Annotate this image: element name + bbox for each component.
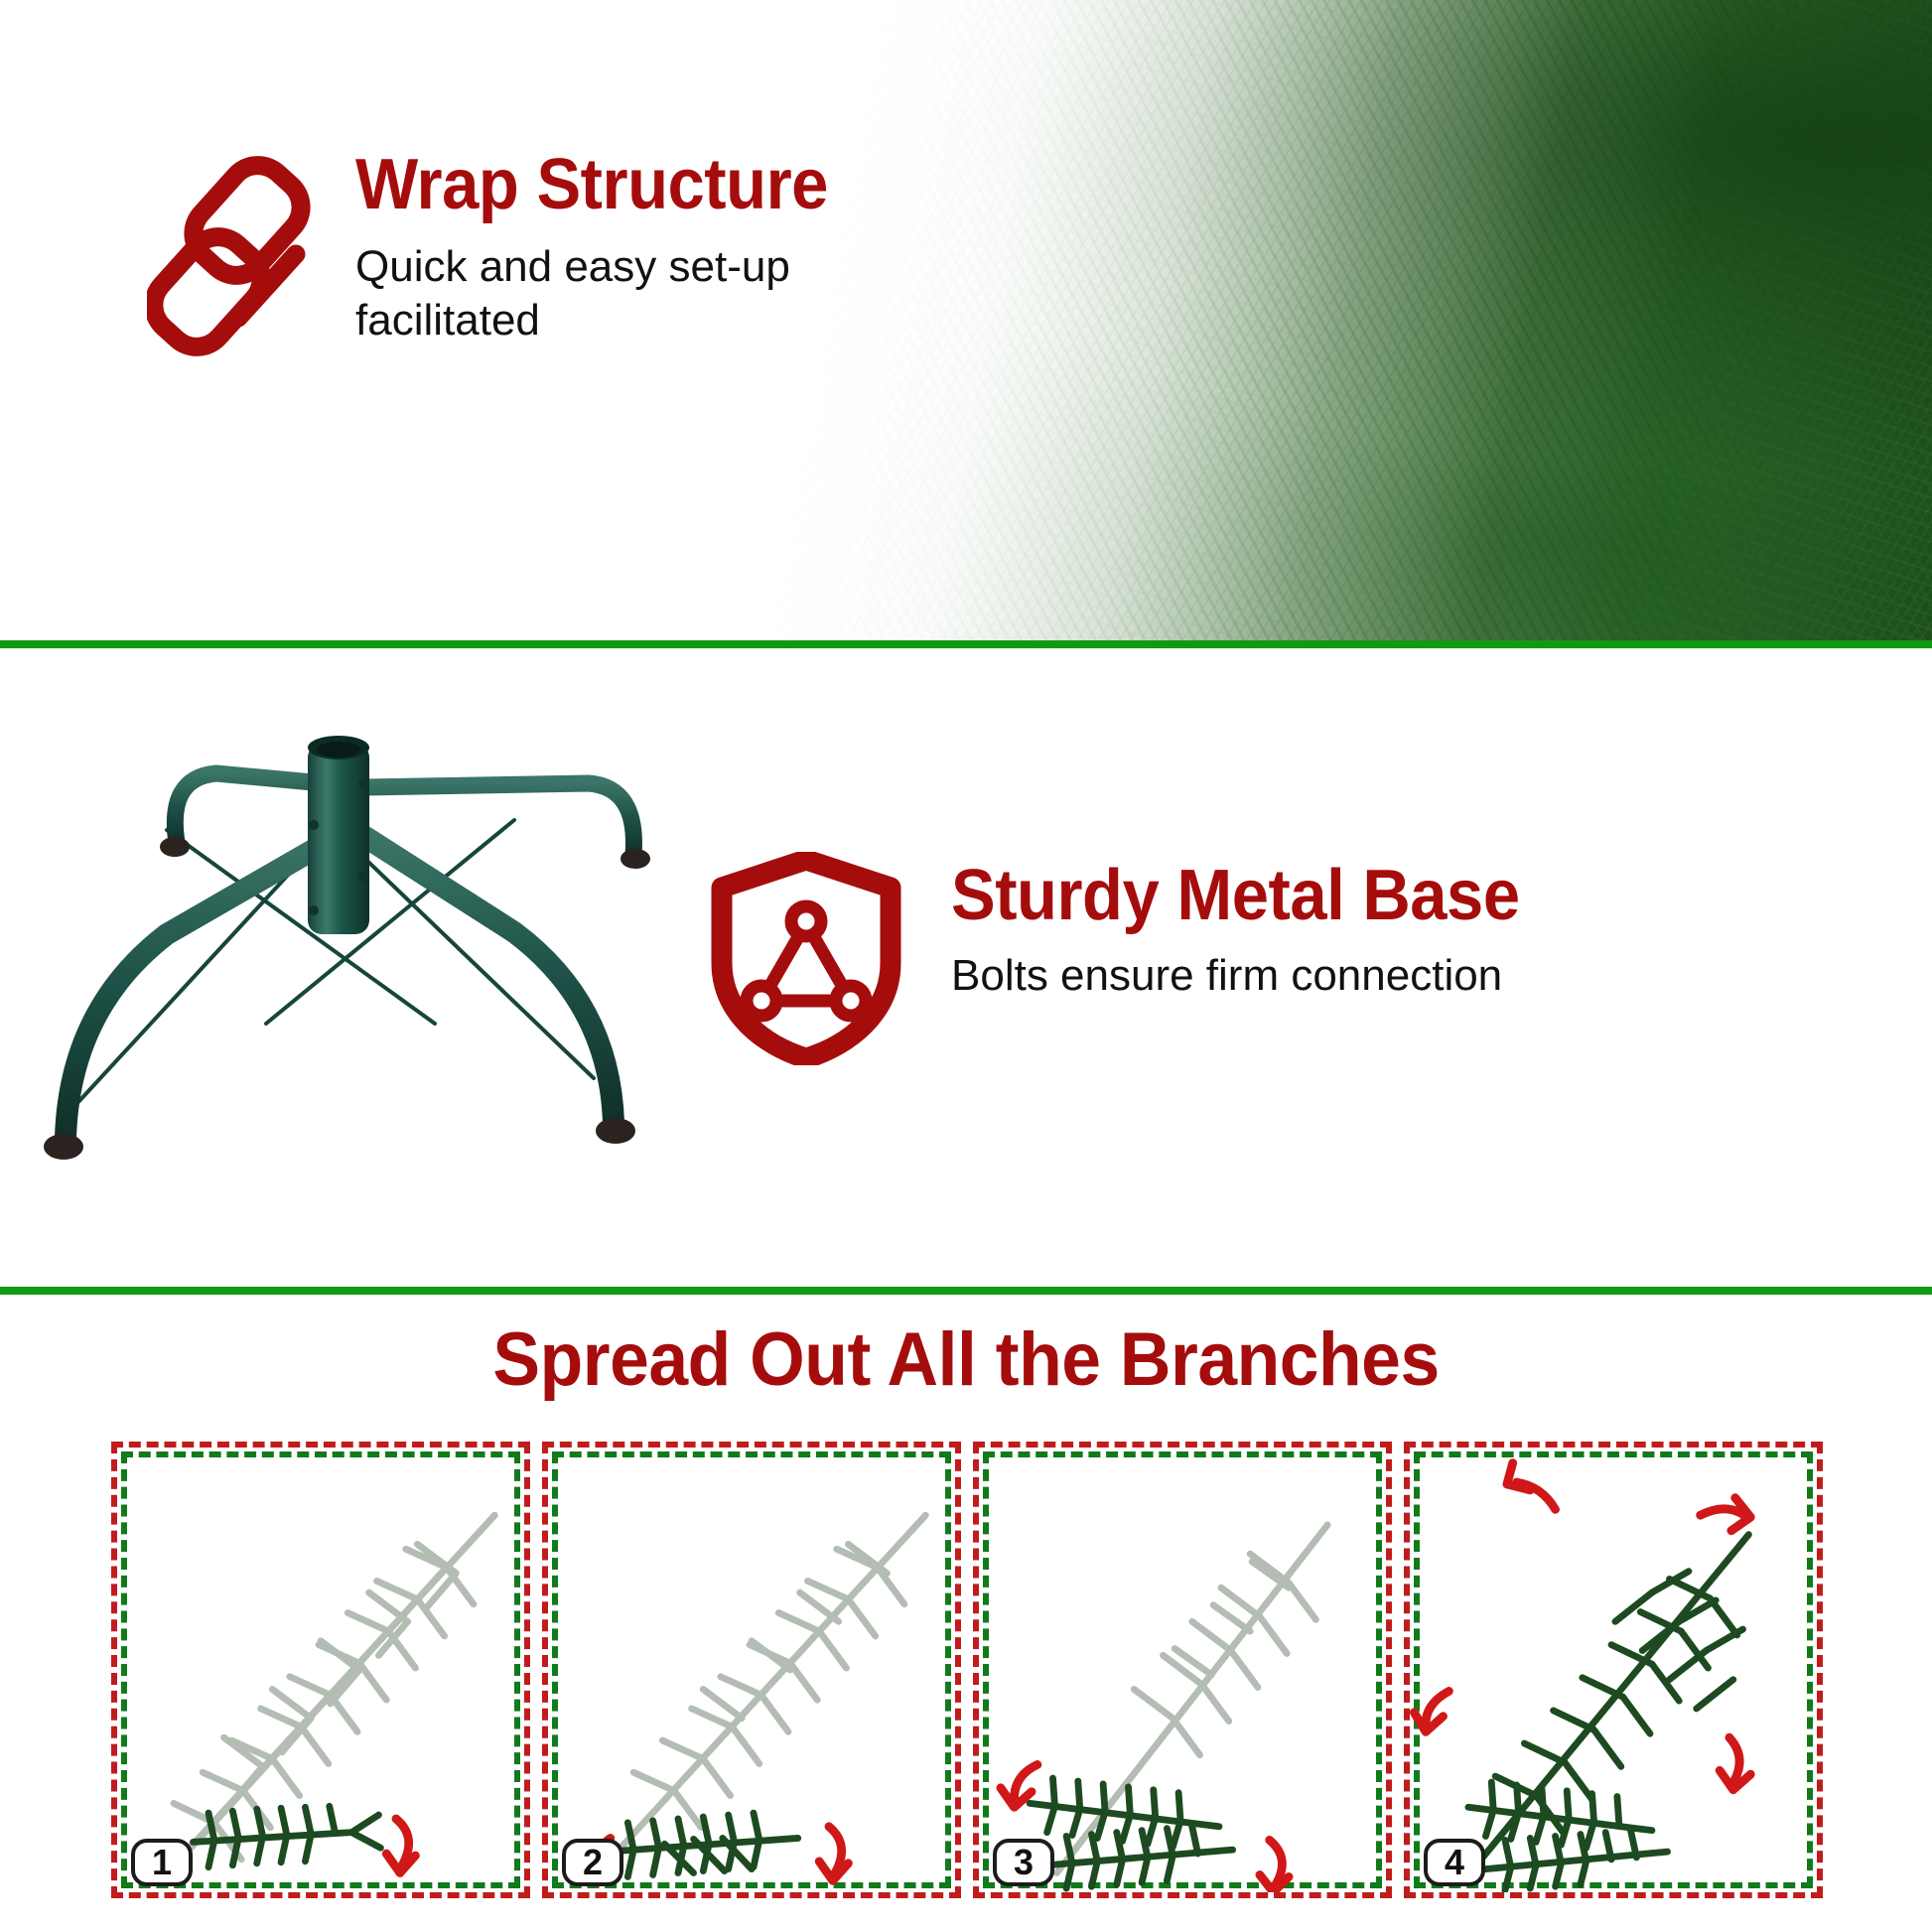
branch-illustration-3 (979, 1448, 1386, 1892)
wrap-structure-title: Wrap Structure (355, 149, 928, 220)
branch-illustration-2 (548, 1448, 955, 1892)
divider-2 (0, 1287, 1932, 1295)
branch-illustration-1 (117, 1448, 524, 1892)
metal-tree-stand-photo (18, 726, 653, 1163)
sturdy-metal-base-title: Sturdy Metal Base (951, 860, 1801, 931)
spread-branches-title-text: Spread Out All the Branches (492, 1322, 1439, 1398)
branch-step-2: 2 (542, 1442, 961, 1898)
shield-triangle-bolts-icon (710, 852, 903, 1065)
spread-branches-title: Spread Out All the Branches (0, 1322, 1932, 1398)
branch-step-1: 1 (111, 1442, 530, 1898)
chain-link-icon (147, 151, 345, 364)
branch-illustration-4 (1410, 1448, 1817, 1892)
wrap-structure-subtitle: Quick and easy set-up facilitated (355, 240, 971, 346)
wrap-structure-text: Wrap Structure Quick and easy set-up fac… (355, 149, 971, 346)
step-number-badge-3: 3 (993, 1839, 1054, 1886)
sturdy-metal-base-subtitle: Bolts ensure firm connection (951, 949, 1864, 1003)
step-number-badge-1: 1 (131, 1839, 193, 1886)
section-wrap-structure: Wrap Structure Quick and easy set-up fac… (0, 0, 1932, 640)
branch-steps-group: 1 (111, 1442, 1823, 1898)
step-number-badge-4: 4 (1424, 1839, 1485, 1886)
branch-step-4: 4 (1404, 1442, 1823, 1898)
branch-step-3: 3 (973, 1442, 1392, 1898)
sturdy-metal-base-text: Sturdy Metal Base Bolts ensure firm conn… (951, 860, 1864, 1003)
section-spread-branches: Spread Out All the Branches (0, 1295, 1932, 1932)
divider-1 (0, 640, 1932, 648)
step-number-badge-2: 2 (562, 1839, 623, 1886)
